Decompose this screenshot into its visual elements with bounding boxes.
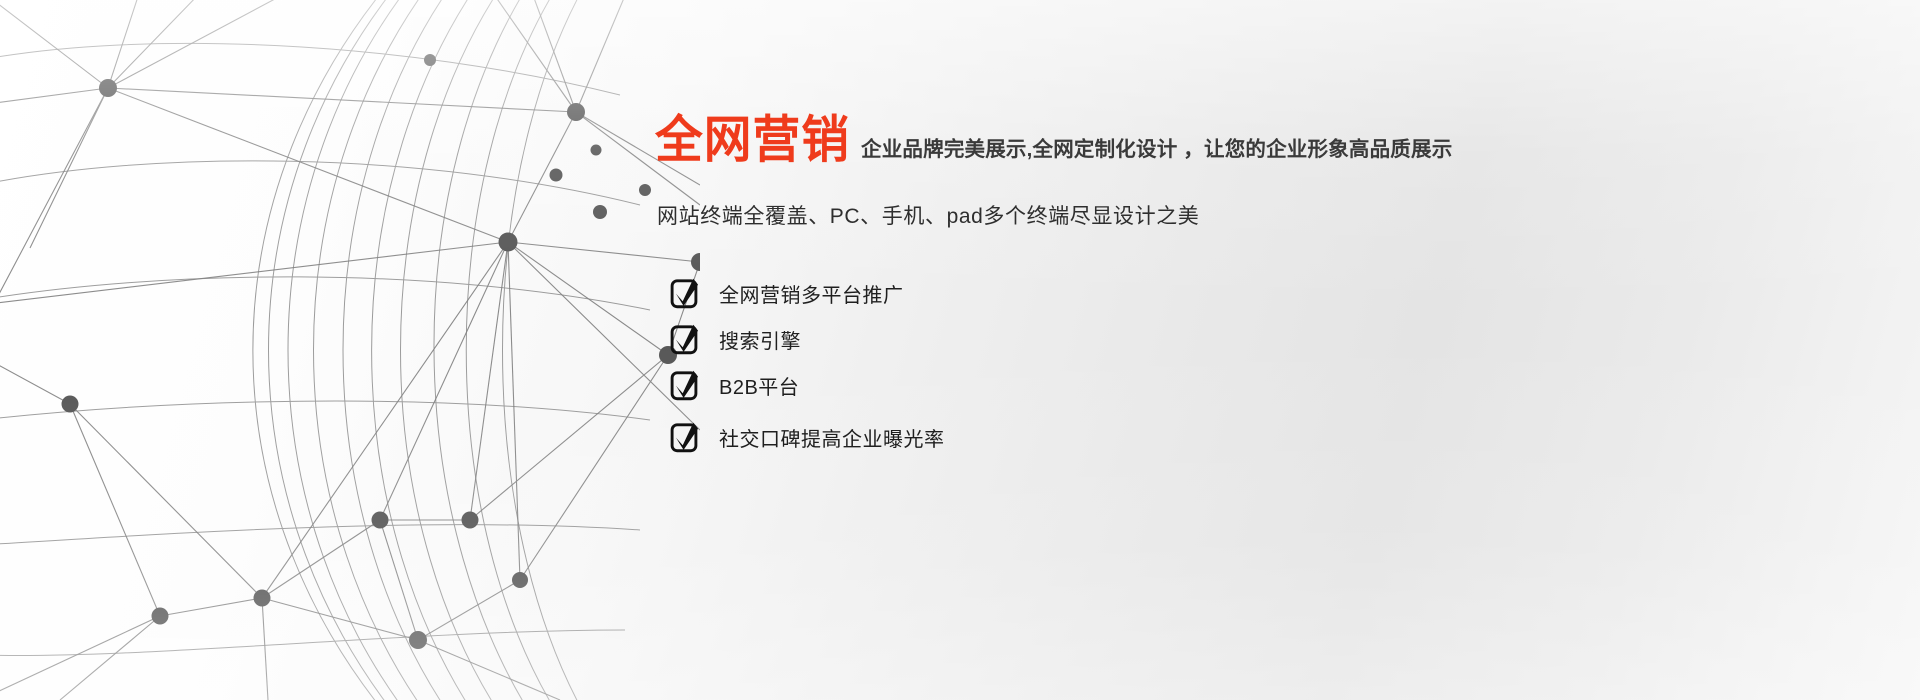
- list-item: 搜索引擎: [667, 318, 1267, 361]
- check-square-icon: [667, 323, 701, 357]
- banner-content: 全网营销 企业品牌完美展示,全网定制化设计 ，让您的企业形象高品质展示 网站终端…: [655, 0, 1855, 700]
- check-square-icon: [667, 421, 701, 455]
- headline-tagline: 企业品牌完美展示,全网定制化设计 ，让您的企业形象高品质展示: [861, 132, 1452, 165]
- list-item-label: 全网营销多平台推广: [719, 279, 904, 308]
- list-item-label: B2B平台: [719, 371, 799, 400]
- check-square-icon: [667, 277, 701, 311]
- list-item-label: 社交口碑提高企业曝光率: [719, 423, 945, 452]
- page-title: 全网营销: [655, 115, 850, 165]
- list-item: B2B平台: [667, 364, 1267, 407]
- headline-row: 全网营销 企业品牌完美展示,全网定制化设计 ，让您的企业形象高品质展示: [655, 120, 1452, 165]
- list-item: 社交口碑提高企业曝光率: [667, 416, 1267, 459]
- feature-list: 全网营销多平台推广 搜索引擎 B2B平台: [667, 272, 1267, 459]
- list-item-label: 搜索引擎: [719, 325, 801, 354]
- globe-network-graphic: [0, 0, 700, 700]
- check-square-icon: [667, 369, 701, 403]
- subtitle-line: 网站终端全覆盖、PC、手机、pad多个终端尽显设计之美: [657, 200, 1199, 230]
- marketing-banner: 全网营销 企业品牌完美展示,全网定制化设计 ，让您的企业形象高品质展示 网站终端…: [0, 0, 1920, 700]
- list-item: 全网营销多平台推广: [667, 272, 1267, 315]
